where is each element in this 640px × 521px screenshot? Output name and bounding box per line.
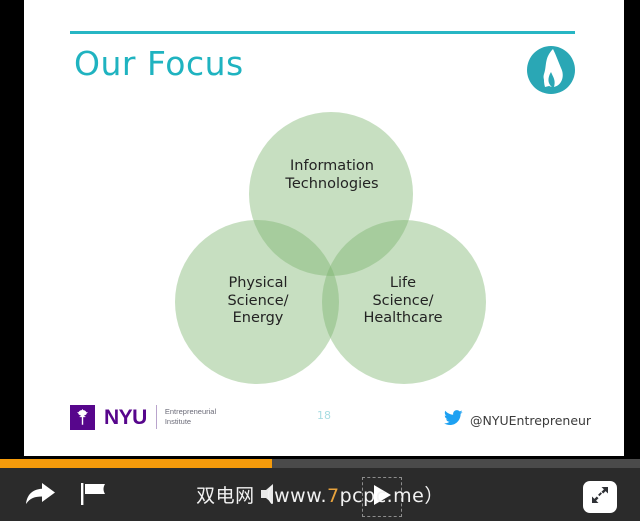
nyu-sub-label: Entrepreneurial Institute: [165, 407, 216, 427]
twitter-handle-label: @NYUEntrepreneur: [470, 413, 591, 428]
share-button[interactable]: [20, 479, 60, 513]
play-button[interactable]: [362, 477, 402, 517]
twitter-bird-icon: [444, 410, 463, 431]
nyu-torch-icon: [70, 405, 95, 430]
flag-icon: [80, 481, 108, 512]
volume-button[interactable]: [258, 482, 288, 510]
presentation-viewer: Our Focus Information Technologies Physi…: [0, 0, 640, 521]
flame-circle-icon: [523, 42, 579, 98]
nyu-divider: [156, 405, 157, 429]
speaker-icon: [260, 482, 286, 511]
playback-progress-fill: [0, 459, 272, 468]
slide-canvas: Our Focus Information Technologies Physi…: [24, 0, 624, 456]
slide-page-number: 18: [309, 409, 339, 422]
title-divider-rule: [70, 31, 575, 34]
expand-diagonal-icon: [590, 485, 610, 510]
play-triangle-icon: [371, 483, 393, 512]
flag-button[interactable]: [75, 479, 113, 513]
share-arrow-icon: [24, 481, 56, 512]
nyu-wordmark: NYU: [104, 407, 147, 428]
venn-label-information-technologies: Information Technologies: [259, 158, 405, 193]
venn-label-physical-science-energy: Physical Science/ Energy: [178, 275, 338, 328]
twitter-credit: @NYUEntrepreneur: [444, 410, 591, 431]
slide-stage[interactable]: Our Focus Information Technologies Physi…: [0, 0, 640, 456]
slide-title: Our Focus: [74, 44, 244, 83]
venn-label-life-science-healthcare: Life Science/ Healthcare: [323, 275, 483, 328]
fullscreen-button[interactable]: [583, 481, 617, 513]
nyu-logo-lockup: NYU Entrepreneurial Institute: [70, 402, 216, 432]
venn-diagram: Information Technologies Physical Scienc…: [175, 112, 475, 387]
playback-progress-track[interactable]: [0, 459, 640, 468]
